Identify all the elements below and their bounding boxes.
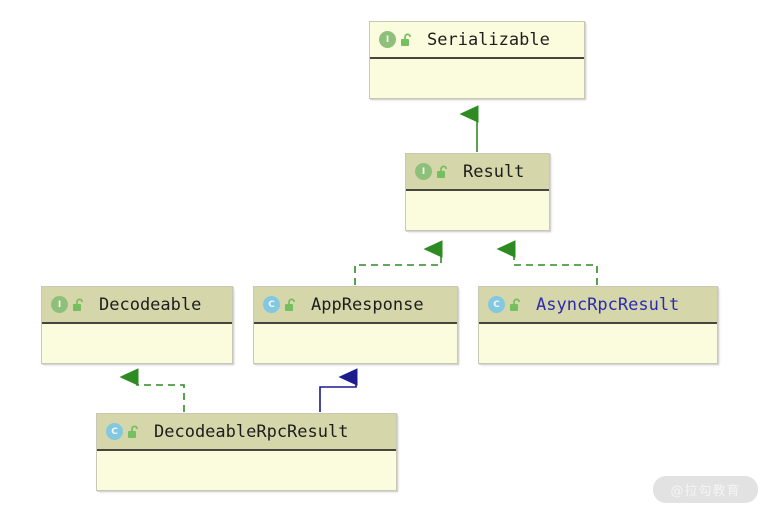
unlocked-padlock-icon bbox=[284, 298, 297, 312]
uml-node-header: C DecodeableRpcResult bbox=[97, 414, 396, 451]
uml-node-title: DecodeableRpcResult bbox=[154, 422, 348, 442]
interface-icon: I bbox=[379, 31, 396, 48]
uml-node-asyncrpcresult[interactable]: C AsyncRpcResult bbox=[478, 286, 718, 364]
class-icon: C bbox=[263, 296, 280, 313]
uml-node-members bbox=[42, 324, 232, 363]
unlocked-padlock-icon bbox=[72, 298, 85, 312]
uml-node-appresponse[interactable]: C AppResponse bbox=[253, 286, 458, 364]
edge-decodeablerpcresult-to-appresponse bbox=[320, 377, 356, 412]
interface-icon: I bbox=[415, 163, 432, 180]
unlocked-padlock-icon bbox=[436, 165, 449, 179]
uml-node-members bbox=[406, 191, 549, 230]
uml-node-decodeable[interactable]: I Decodeable bbox=[41, 286, 233, 364]
edge-appresponse-to-result bbox=[355, 249, 441, 285]
uml-node-title: Decodeable bbox=[99, 295, 201, 315]
unlocked-padlock-icon bbox=[127, 425, 140, 439]
uml-node-result[interactable]: I Result bbox=[405, 153, 550, 231]
edge-asyncrpcresult-to-result bbox=[514, 249, 597, 285]
uml-node-header: I Serializable bbox=[370, 22, 584, 59]
interface-icon: I bbox=[51, 296, 68, 313]
uml-node-title: AsyncRpcResult bbox=[536, 295, 679, 315]
uml-node-title: Serializable bbox=[427, 30, 550, 50]
uml-node-members bbox=[254, 324, 457, 363]
edge-decodeablerpcresult-to-decodeable bbox=[137, 377, 184, 412]
uml-node-header: I Result bbox=[406, 154, 549, 191]
uml-node-header: C AsyncRpcResult bbox=[479, 287, 717, 324]
uml-node-decodeablerpcresult[interactable]: C DecodeableRpcResult bbox=[96, 413, 397, 491]
watermark: @拉勾教育 bbox=[653, 476, 758, 503]
uml-node-members bbox=[97, 451, 396, 490]
uml-class-diagram: I Serializable I Result bbox=[0, 0, 771, 515]
class-icon: C bbox=[106, 423, 123, 440]
uml-node-members bbox=[370, 59, 584, 98]
uml-node-title: Result bbox=[463, 162, 524, 182]
uml-node-header: C AppResponse bbox=[254, 287, 457, 324]
unlocked-padlock-icon bbox=[509, 298, 522, 312]
uml-node-header: I Decodeable bbox=[42, 287, 232, 324]
uml-node-members bbox=[479, 324, 717, 363]
uml-node-serializable[interactable]: I Serializable bbox=[369, 21, 585, 99]
unlocked-padlock-icon bbox=[400, 33, 413, 47]
uml-node-title: AppResponse bbox=[311, 295, 424, 315]
class-icon: C bbox=[488, 296, 505, 313]
